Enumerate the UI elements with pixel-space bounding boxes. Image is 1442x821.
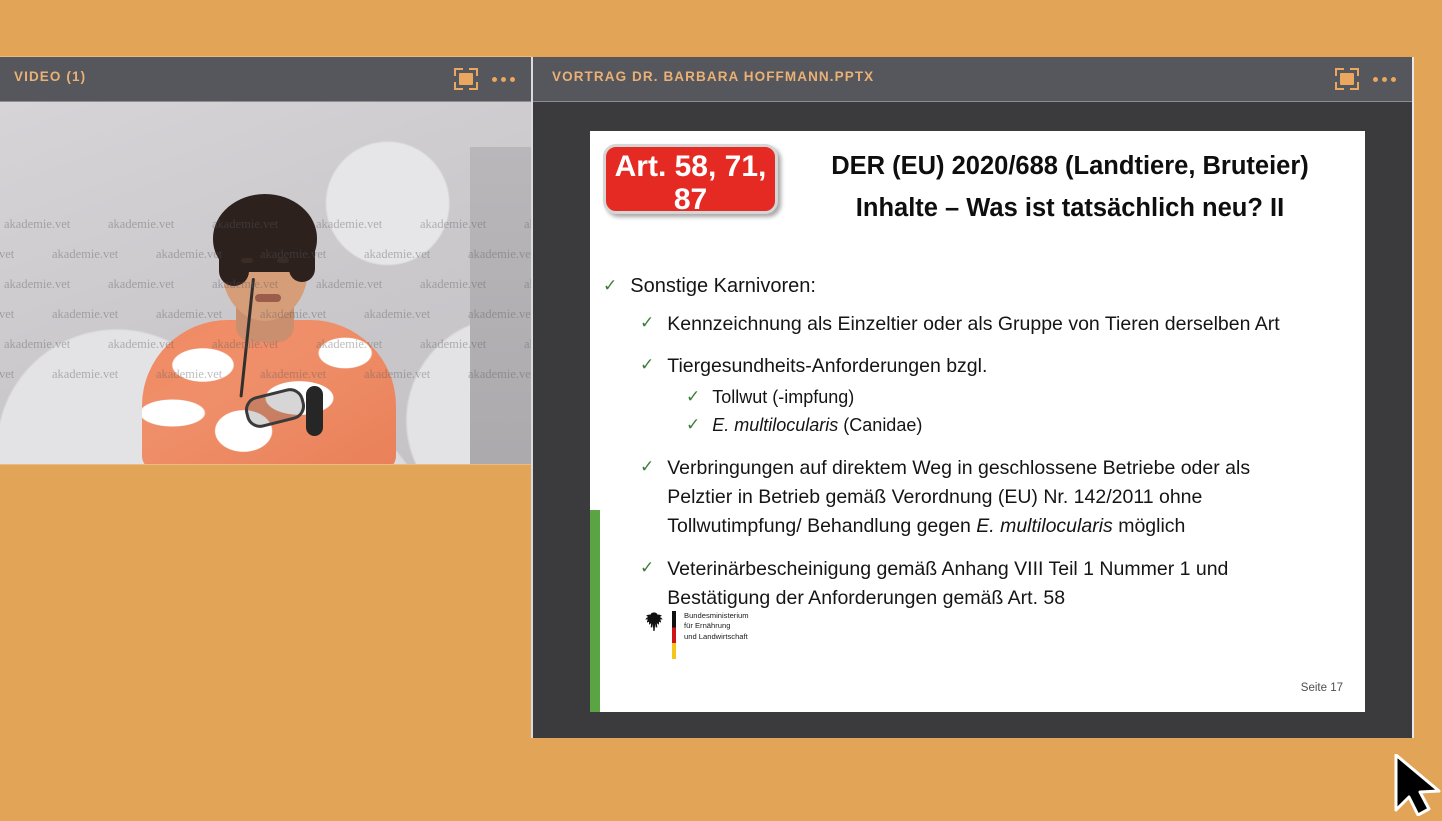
slide-heading-line-2: Inhalte – Was ist tatsächlich neu? II	[786, 187, 1354, 229]
bullet-text-tail: möglich	[1113, 515, 1186, 537]
slide-heading: DER (EU) 2020/688 (Landtiere, Bruteier) …	[786, 145, 1354, 229]
check-icon: ✓	[686, 384, 700, 405]
ministry-name: Bundesministerium für Ernährung und Land…	[684, 611, 749, 642]
microphone-icon	[306, 386, 323, 436]
list-item: ✓ E. multilocularis (Canidae)	[598, 412, 1363, 438]
check-icon: ✓	[640, 352, 654, 373]
video-panel-tools	[454, 68, 515, 90]
list-item: ✓ Tollwut (-impfung)	[598, 384, 1363, 410]
video-panel: VIDEO (1) akademie.vetakademie.vetakadem…	[0, 57, 531, 464]
bullet-text: Tollwut (-impfung)	[712, 384, 854, 410]
list-item: ✓ Verbringungen auf direktem Weg in gesc…	[598, 454, 1363, 541]
bullet-text: Sonstige Karnivoren:	[630, 273, 816, 300]
check-icon: ✓	[640, 454, 654, 475]
list-item: ✓ Sonstige Karnivoren:	[598, 273, 1363, 300]
ministry-line-2: für Ernährung	[684, 621, 749, 631]
slide-bullet-list: ✓ Sonstige Karnivoren: ✓ Kennzeichnung a…	[598, 273, 1363, 627]
studio-wall-right	[470, 147, 531, 464]
slide-page-number: Seite 17	[1301, 682, 1343, 694]
check-icon: ✓	[640, 310, 654, 331]
ministry-line-3: und Landwirtschaft	[684, 632, 749, 642]
speaker-hair	[213, 194, 317, 272]
presentation-panel-header: VORTRAG DR. BARBARA HOFFMANN.PPTX	[533, 57, 1412, 102]
check-icon: ✓	[686, 412, 700, 433]
speaker-mouth	[255, 294, 281, 302]
slide-canvas[interactable]: Art. 58, 71, 87 DER (EU) 2020/688 (Landt…	[590, 131, 1365, 712]
presentation-file-title: VORTRAG DR. BARBARA HOFFMANN.PPTX	[552, 69, 874, 84]
ministry-line-1: Bundesministerium	[684, 611, 749, 621]
more-options-icon[interactable]	[492, 77, 515, 82]
bullet-text: Veterinärbescheinigung gemäß Anhang VIII…	[667, 555, 1267, 613]
bullet-text: E. multilocularis (Canidae)	[712, 412, 922, 438]
bullet-text-italic: E. multilocularis	[976, 515, 1113, 537]
bullet-text: Verbringungen auf direktem Weg in geschl…	[667, 454, 1267, 541]
federal-eagle-icon	[643, 611, 665, 635]
video-panel-header: VIDEO (1)	[0, 57, 531, 102]
speaker-eye-right	[277, 258, 289, 263]
speaker-eye-left	[241, 258, 253, 263]
bullet-text-italic: E. multilocularis	[712, 415, 838, 435]
presentation-panel: VORTRAG DR. BARBARA HOFFMANN.PPTX Art. 5…	[531, 57, 1414, 738]
bullet-text: Kennzeichnung als Einzeltier oder als Gr…	[667, 310, 1279, 338]
article-badge: Art. 58, 71, 87	[603, 144, 778, 214]
video-panel-title: VIDEO (1)	[14, 69, 86, 84]
video-stage[interactable]: akademie.vetakademie.vetakademie.vetakad…	[0, 102, 531, 464]
expand-icon[interactable]	[1335, 68, 1359, 90]
expand-icon[interactable]	[454, 68, 478, 90]
presentation-panel-tools	[1335, 68, 1396, 90]
list-item: ✓ Tiergesundheits-Anforderungen bzgl.	[598, 352, 1363, 380]
more-options-icon[interactable]	[1373, 77, 1396, 82]
check-icon: ✓	[603, 273, 617, 294]
german-flag-bar	[672, 611, 676, 659]
bullet-text-tail: (Canidae)	[838, 415, 922, 435]
slide-heading-line-1: DER (EU) 2020/688 (Landtiere, Bruteier)	[786, 145, 1354, 187]
mouse-cursor	[1392, 754, 1442, 816]
check-icon: ✓	[640, 555, 654, 576]
list-item: ✓ Kennzeichnung als Einzeltier oder als …	[598, 310, 1363, 338]
bullet-text: Tiergesundheits-Anforderungen bzgl.	[667, 352, 987, 380]
list-item: ✓ Veterinärbescheinigung gemäß Anhang VI…	[598, 555, 1363, 613]
ministry-logo: Bundesministerium für Ernährung und Land…	[643, 611, 749, 659]
